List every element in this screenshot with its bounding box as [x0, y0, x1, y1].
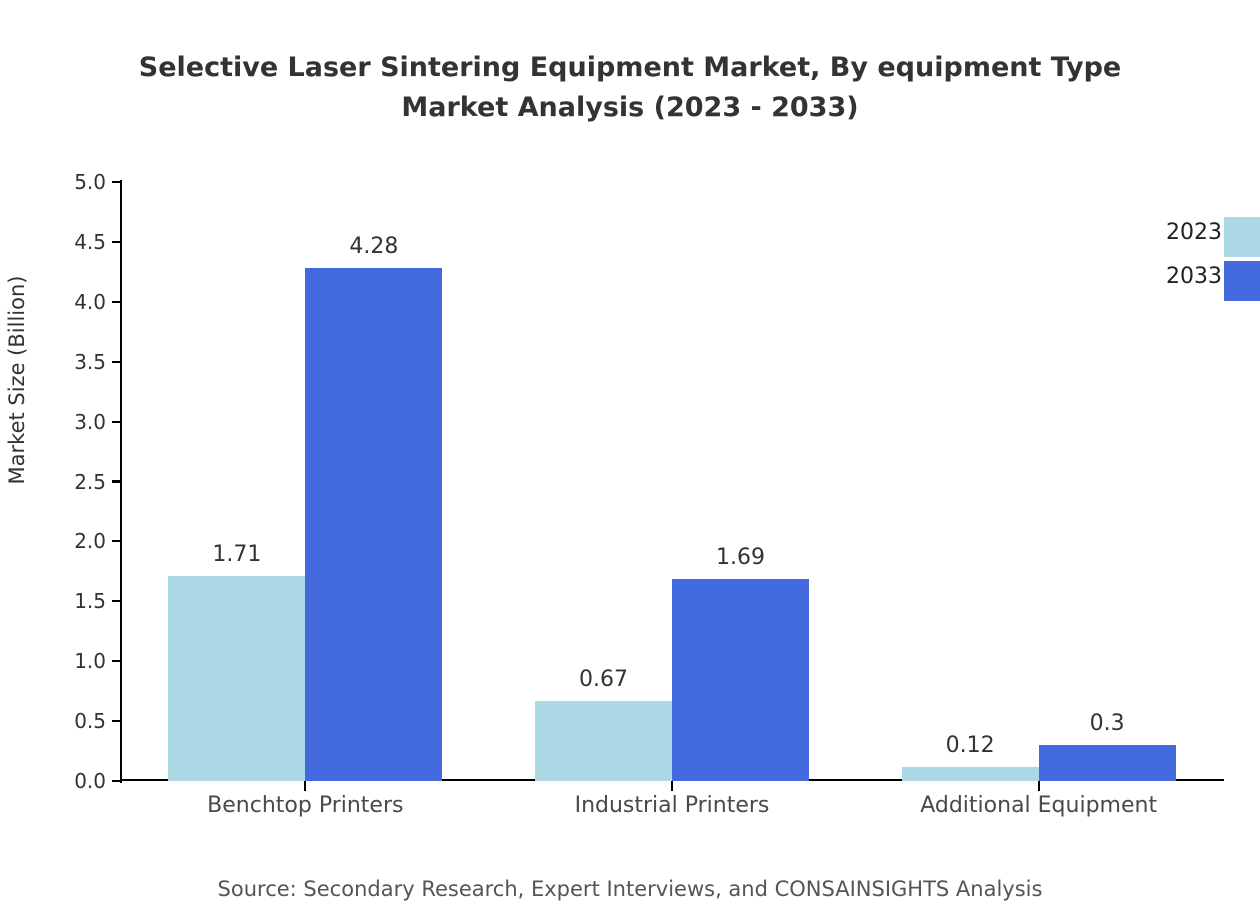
x-tick-mark [304, 781, 306, 791]
bar-value-label: 0.12 [890, 733, 1050, 758]
bar-value-label: 4.28 [294, 234, 454, 259]
y-tick-label: 1.0 [36, 651, 106, 671]
y-tick-mark [112, 720, 122, 722]
y-tick-mark [112, 241, 122, 243]
bar-2023-industrial-printers[interactable] [535, 701, 672, 781]
bar-value-label: 1.71 [157, 542, 317, 567]
bar-value-label: 1.69 [661, 545, 821, 570]
y-tick-mark [112, 301, 122, 303]
y-tick-mark [112, 780, 122, 782]
bar-2033-industrial-printers[interactable] [672, 579, 809, 781]
x-tick-mark [671, 781, 673, 791]
y-tick-mark [112, 421, 122, 423]
y-tick-label: 4.5 [36, 232, 106, 252]
chart-figure: Selective Laser Sintering Equipment Mark… [0, 0, 1260, 920]
legend-item-2033[interactable]: 2033 [1100, 258, 1260, 298]
y-tick-mark [112, 361, 122, 363]
y-tick-mark [112, 480, 122, 482]
bar-value-label: 0.3 [1027, 711, 1187, 736]
chart-title-line-1: Selective Laser Sintering Equipment Mark… [139, 52, 1122, 83]
x-tick-label: Benchtop Printers [135, 793, 475, 818]
legend-label: 2023 [1166, 220, 1222, 245]
bar-2033-benchtop-printers[interactable] [305, 268, 442, 781]
source-note: Source: Secondary Research, Expert Inter… [0, 877, 1260, 901]
y-tick-label: 5.0 [36, 172, 106, 192]
y-tick-label: 1.5 [36, 591, 106, 611]
bar-2023-benchtop-printers[interactable] [168, 576, 305, 781]
y-tick-label: 2.5 [36, 472, 106, 492]
legend-color-swatch [1224, 217, 1260, 257]
y-tick-mark [112, 540, 122, 542]
chart-title: Selective Laser Sintering Equipment Mark… [0, 48, 1260, 128]
bar-2023-additional-equipment[interactable] [902, 767, 1039, 781]
y-tick-label: 4.0 [36, 292, 106, 312]
bar-value-label: 0.67 [524, 667, 684, 692]
legend-item-2023[interactable]: 2023 [1100, 214, 1260, 254]
y-tick-mark [112, 600, 122, 602]
x-tick-mark [1038, 781, 1040, 791]
bar-2033-additional-equipment[interactable] [1039, 745, 1176, 781]
chart-title-line-2: Market Analysis (2023 - 2033) [0, 88, 1260, 128]
y-tick-label: 0.0 [36, 771, 106, 791]
y-tick-label: 3.5 [36, 352, 106, 372]
chart-legend[interactable]: 20232033 [1100, 214, 1260, 310]
legend-color-swatch [1224, 261, 1260, 301]
legend-label: 2033 [1166, 264, 1222, 289]
x-tick-label: Industrial Printers [502, 793, 842, 818]
y-tick-mark [112, 181, 122, 183]
y-tick-label: 2.0 [36, 531, 106, 551]
y-tick-mark [112, 660, 122, 662]
x-tick-label: Additional Equipment [869, 793, 1209, 818]
y-tick-label: 3.0 [36, 412, 106, 432]
y-tick-label: 0.5 [36, 711, 106, 731]
y-axis-title: Market Size (Billion) [5, 230, 29, 530]
